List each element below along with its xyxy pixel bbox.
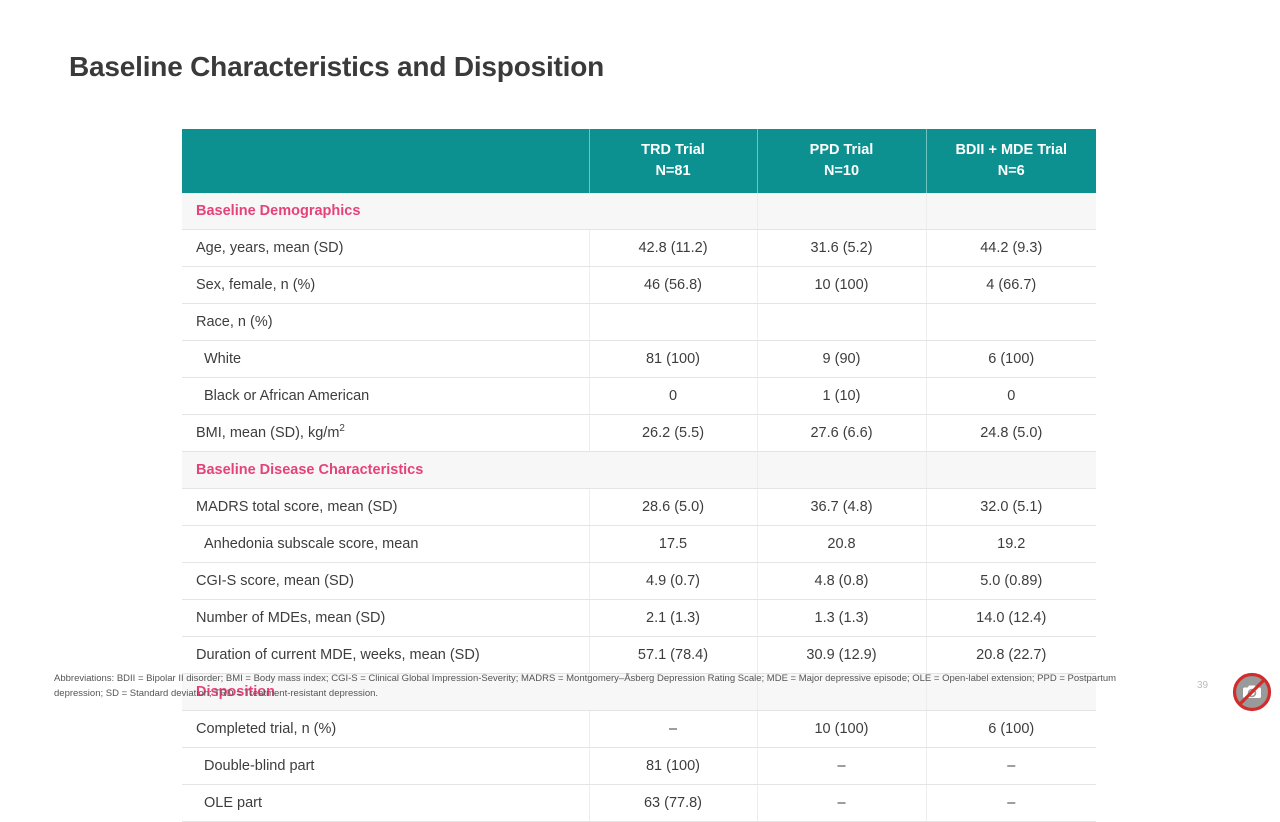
- row-value-cell: 46 (56.8): [589, 267, 757, 304]
- table-row: CGI-S score, mean (SD)4.9 (0.7)4.8 (0.8)…: [182, 563, 1096, 600]
- row-value-cell: –: [926, 748, 1096, 785]
- data-table: TRD Trial N=81 PPD Trial N=10 BDII + MDE…: [182, 129, 1096, 822]
- abbreviations-footnote: Abbreviations: BDII = Bipolar II disorde…: [54, 672, 1122, 701]
- row-value-cell: 24.8 (5.0): [926, 415, 1096, 452]
- row-value-cell: 10 (100): [757, 267, 926, 304]
- row-label: Anhedonia subscale score, mean: [182, 526, 589, 563]
- table-row: White81 (100)9 (90)6 (100): [182, 341, 1096, 378]
- row-value-cell: 63 (77.8): [589, 785, 757, 822]
- row-label: MADRS total score, mean (SD): [182, 489, 589, 526]
- table-row: Black or African American01 (10)0: [182, 378, 1096, 415]
- row-value-cell: 0: [589, 378, 757, 415]
- row-value-cell: 27.6 (6.6): [757, 415, 926, 452]
- row-value-cell: 19.2: [926, 526, 1096, 563]
- header-bdii-mde-n: N=6: [931, 161, 1093, 182]
- row-value-cell: 32.0 (5.1): [926, 489, 1096, 526]
- table-row: MADRS total score, mean (SD)28.6 (5.0)36…: [182, 489, 1096, 526]
- section-spacer-cell: [926, 193, 1096, 230]
- row-value-cell: 4.9 (0.7): [589, 563, 757, 600]
- section-spacer-cell: [757, 193, 926, 230]
- row-label: Sex, female, n (%): [182, 267, 589, 304]
- table-header-row: TRD Trial N=81 PPD Trial N=10 BDII + MDE…: [182, 129, 1096, 193]
- section-title: Baseline Disease Characteristics: [182, 452, 589, 489]
- row-label: Double-blind part: [182, 748, 589, 785]
- row-label: Duration of current MDE, weeks, mean (SD…: [182, 637, 589, 674]
- table-row: BMI, mean (SD), kg/m226.2 (5.5)27.6 (6.6…: [182, 415, 1096, 452]
- row-value-cell: 1.3 (1.3): [757, 600, 926, 637]
- header-cell-trd: TRD Trial N=81: [589, 129, 757, 193]
- row-value-cell: 26.2 (5.5): [589, 415, 757, 452]
- row-value-cell: 10 (100): [757, 711, 926, 748]
- section-spacer-cell: [757, 452, 926, 489]
- header-bdii-mde-label: BDII + MDE Trial: [955, 142, 1067, 158]
- row-label: Race, n (%): [182, 304, 589, 341]
- row-value-cell: 30.9 (12.9): [757, 637, 926, 674]
- no-camera-icon: [1232, 672, 1272, 712]
- row-value-cell: 44.2 (9.3): [926, 230, 1096, 267]
- row-value-cell: 5.0 (0.89): [926, 563, 1096, 600]
- row-value-cell: 28.6 (5.0): [589, 489, 757, 526]
- row-label: Number of MDEs, mean (SD): [182, 600, 589, 637]
- row-value-cell: 17.5: [589, 526, 757, 563]
- row-value-cell: 42.8 (11.2): [589, 230, 757, 267]
- row-value-cell: 20.8: [757, 526, 926, 563]
- row-value-cell: 31.6 (5.2): [757, 230, 926, 267]
- header-trd-label: TRD Trial: [641, 142, 705, 158]
- row-value-cell: 36.7 (4.8): [757, 489, 926, 526]
- header-ppd-n: N=10: [762, 161, 922, 182]
- table-row: Duration of current MDE, weeks, mean (SD…: [182, 637, 1096, 674]
- row-value-cell: 4 (66.7): [926, 267, 1096, 304]
- header-cell-label: [182, 129, 589, 193]
- table-header: TRD Trial N=81 PPD Trial N=10 BDII + MDE…: [182, 129, 1096, 193]
- table-row: Age, years, mean (SD)42.8 (11.2)31.6 (5.…: [182, 230, 1096, 267]
- row-value-cell: [589, 304, 757, 341]
- row-value-cell: –: [926, 785, 1096, 822]
- table-row: Number of MDEs, mean (SD)2.1 (1.3)1.3 (1…: [182, 600, 1096, 637]
- section-spacer-cell: [589, 452, 757, 489]
- row-value-cell: 81 (100): [589, 748, 757, 785]
- page-title: Baseline Characteristics and Disposition: [69, 51, 604, 83]
- table-row: Double-blind part81 (100)––: [182, 748, 1096, 785]
- baseline-characteristics-table: TRD Trial N=81 PPD Trial N=10 BDII + MDE…: [182, 129, 1096, 822]
- header-cell-ppd: PPD Trial N=10: [757, 129, 926, 193]
- row-label-superscript: 2: [339, 423, 344, 434]
- header-ppd-label: PPD Trial: [810, 142, 874, 158]
- section-title: Baseline Demographics: [182, 193, 589, 230]
- header-trd-n: N=81: [594, 161, 753, 182]
- section-header-row: Baseline Demographics: [182, 193, 1096, 230]
- row-value-cell: 20.8 (22.7): [926, 637, 1096, 674]
- row-value-cell: –: [757, 748, 926, 785]
- page-number: 39: [1197, 680, 1208, 691]
- row-label: Completed trial, n (%): [182, 711, 589, 748]
- row-value-cell: 9 (90): [757, 341, 926, 378]
- row-label-text: BMI, mean (SD), kg/m: [196, 425, 339, 441]
- row-value-cell: –: [589, 711, 757, 748]
- table-row: Sex, female, n (%)46 (56.8)10 (100)4 (66…: [182, 267, 1096, 304]
- section-header-row: Baseline Disease Characteristics: [182, 452, 1096, 489]
- row-value-cell: 6 (100): [926, 711, 1096, 748]
- row-value-cell: 81 (100): [589, 341, 757, 378]
- section-spacer-cell: [926, 452, 1096, 489]
- table-row: Race, n (%): [182, 304, 1096, 341]
- row-value-cell: 2.1 (1.3): [589, 600, 757, 637]
- row-label: OLE part: [182, 785, 589, 822]
- row-value-cell: 6 (100): [926, 341, 1096, 378]
- row-label: White: [182, 341, 589, 378]
- table-row: OLE part63 (77.8)––: [182, 785, 1096, 822]
- row-label: CGI-S score, mean (SD): [182, 563, 589, 600]
- row-value-cell: 14.0 (12.4): [926, 600, 1096, 637]
- row-label: Black or African American: [182, 378, 589, 415]
- row-label: Age, years, mean (SD): [182, 230, 589, 267]
- table-body: Baseline DemographicsAge, years, mean (S…: [182, 193, 1096, 822]
- row-value-cell: –: [757, 785, 926, 822]
- row-value-cell: 4.8 (0.8): [757, 563, 926, 600]
- row-value-cell: 1 (10): [757, 378, 926, 415]
- row-value-cell: 0: [926, 378, 1096, 415]
- slide-canvas: Baseline Characteristics and Disposition…: [0, 0, 1280, 720]
- row-label: BMI, mean (SD), kg/m2: [182, 415, 589, 452]
- table-row: Anhedonia subscale score, mean17.520.819…: [182, 526, 1096, 563]
- row-value-cell: [926, 304, 1096, 341]
- header-cell-bdii-mde: BDII + MDE Trial N=6: [926, 129, 1096, 193]
- section-spacer-cell: [589, 193, 757, 230]
- row-value-cell: [757, 304, 926, 341]
- row-value-cell: 57.1 (78.4): [589, 637, 757, 674]
- table-row: Completed trial, n (%)–10 (100)6 (100): [182, 711, 1096, 748]
